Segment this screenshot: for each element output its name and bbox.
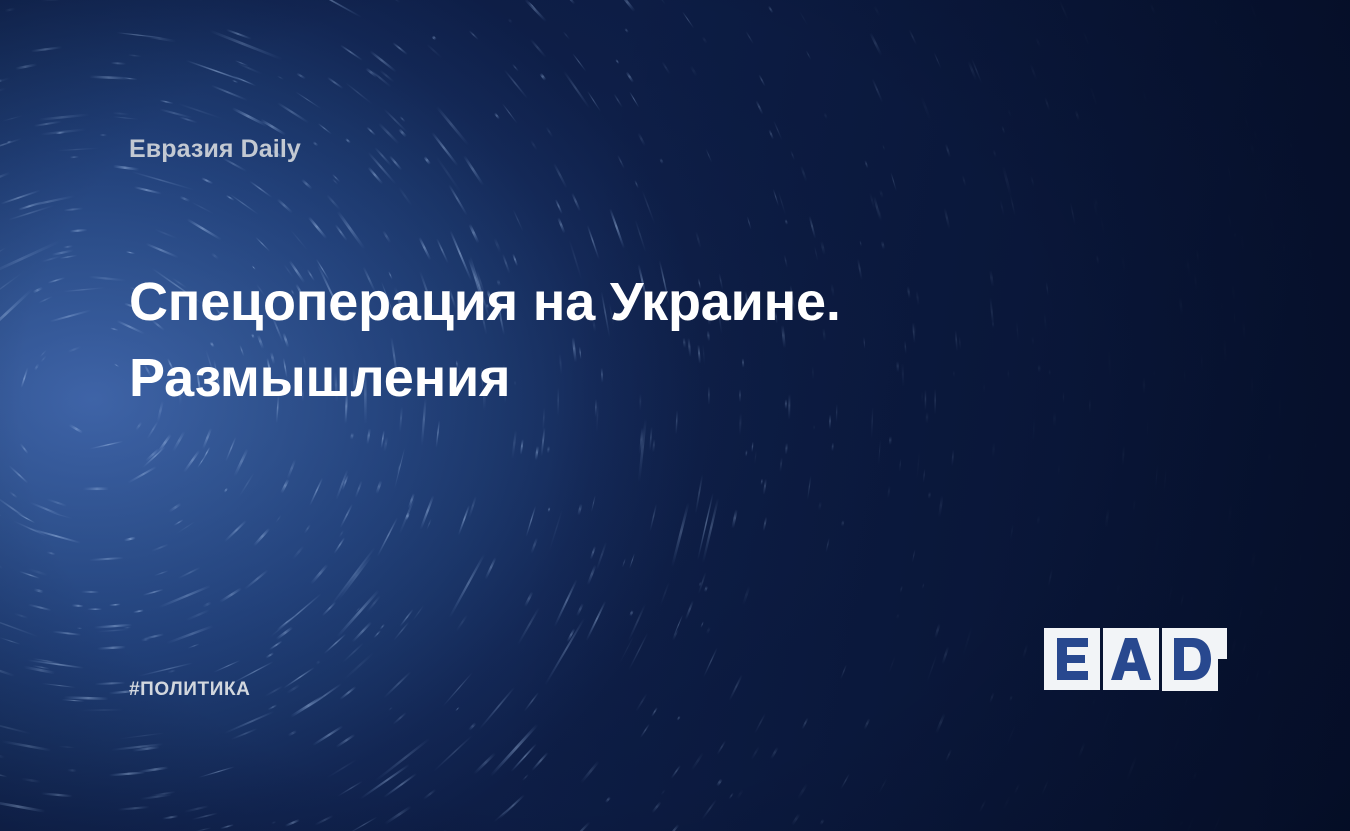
ead-logo[interactable]	[1044, 628, 1220, 690]
site-name: Евразия Daily	[129, 135, 301, 164]
category-tag[interactable]: #ПОЛИТИКА	[129, 679, 251, 701]
logo-tile-e	[1044, 628, 1100, 690]
page-title: Спецоперация на Украине. Размышления	[129, 264, 949, 416]
logo-letter-d-top	[1162, 628, 1218, 659]
logo-letter-d-bottom	[1162, 659, 1218, 690]
news-share-card: Евразия Daily Спецоперация на Украине. Р…	[0, 0, 1350, 831]
card-content: Евразия Daily Спецоперация на Украине. Р…	[0, 0, 1350, 831]
logo-tile-a	[1103, 628, 1159, 690]
headline-line-2: Размышления	[129, 340, 949, 416]
headline-line-1: Спецоперация на Украине.	[129, 264, 949, 340]
logo-tile-d	[1162, 628, 1218, 690]
